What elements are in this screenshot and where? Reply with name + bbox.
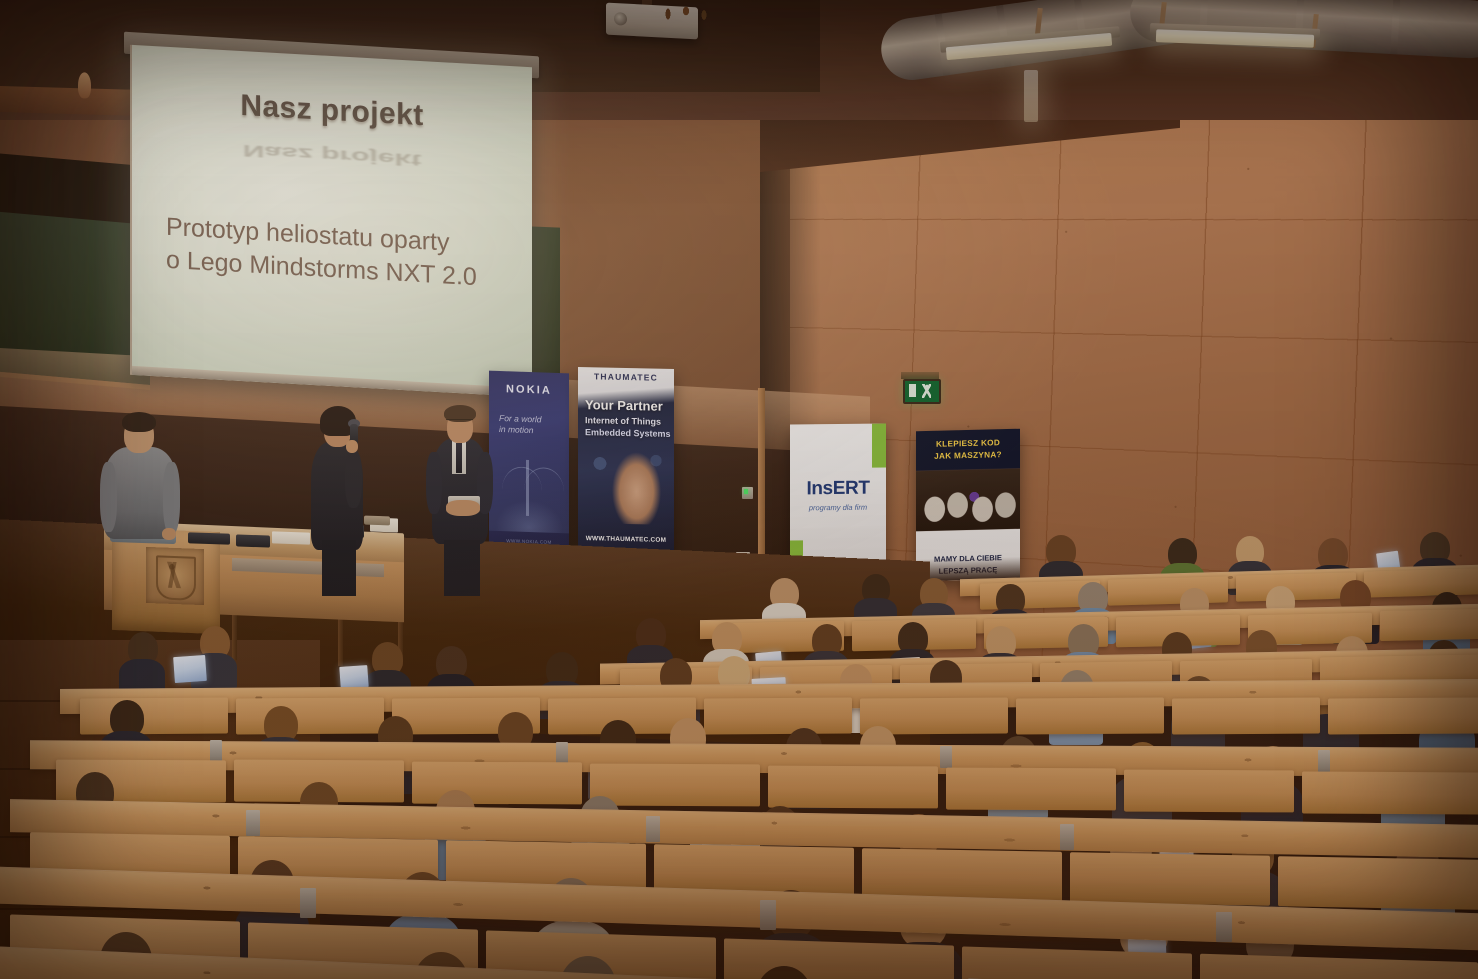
banner-recruitment: KLEPIESZ KOD JAK MASZYNA? MAMY DLA CIEBI… [916, 429, 1020, 582]
banner-insert: InsERT programy dla firm [790, 423, 886, 576]
projector-cables [660, 2, 718, 28]
seat-back[interactable] [590, 764, 760, 807]
presenter-left-arm [100, 462, 117, 532]
presenter-center-hand [346, 440, 358, 453]
banner-nokia: NOKIA For a world in motion WWW.NOKIA.CO… [489, 371, 569, 552]
desk-bracket [1060, 824, 1074, 850]
desk-object [364, 516, 390, 526]
desk-bracket [940, 746, 952, 768]
wall-light-glow [1024, 70, 1038, 122]
seat-back[interactable] [1364, 568, 1478, 597]
seat-back[interactable] [1200, 954, 1478, 979]
seat-back[interactable] [1172, 697, 1320, 734]
projection-screen: Nasz projekt Nasz projekt Prototyp helio… [130, 45, 532, 397]
desk-bracket [210, 740, 222, 762]
desk-bracket [300, 888, 316, 918]
seat-back[interactable] [1108, 576, 1228, 605]
tablet-screen[interactable] [173, 655, 207, 683]
recruitment-photo [916, 469, 1020, 532]
projector-lens [614, 12, 627, 26]
thaumatec-url: WWW.THAUMATEC.COM [578, 535, 674, 544]
exit-door-icon [909, 384, 916, 397]
nokia-bridge-photo [489, 435, 569, 534]
recruitment-headline: KLEPIESZ KOD JAK MASZYNA? [916, 429, 1020, 464]
desk-equipment [236, 534, 270, 547]
slide-title-reflection: Nasz projekt [132, 135, 532, 176]
emergency-exit-sign [903, 379, 941, 404]
presenter-right-glasses [446, 419, 473, 425]
lecture-hall-photo: Nasz projekt Nasz projekt Prototyp helio… [0, 0, 1478, 979]
seat-back[interactable] [80, 697, 228, 734]
seat-back[interactable] [1380, 609, 1478, 641]
running-person-icon [922, 384, 931, 398]
insert-tagline: programy dla firm [790, 502, 886, 512]
seat-back[interactable] [1016, 697, 1164, 734]
seat-back[interactable] [1302, 772, 1478, 815]
seat-back[interactable] [724, 938, 954, 979]
seat-back[interactable] [412, 762, 582, 805]
presenter-left-arm [163, 462, 180, 534]
presenter-right-arm [426, 452, 442, 514]
desk-bracket [646, 816, 660, 842]
presenter-right-tie [456, 443, 462, 473]
thaumatec-hand-photo [608, 438, 670, 525]
nokia-logo: NOKIA [489, 383, 569, 398]
desk-bracket [556, 742, 568, 764]
insert-logo: InsERT [790, 477, 886, 500]
presenter-left-hand [162, 528, 176, 540]
seat-back[interactable] [1236, 572, 1356, 601]
thaumatec-logo: THAUMATEC [578, 371, 674, 383]
thaumatec-line-2: Internet of Things [585, 415, 674, 427]
seat-back[interactable] [946, 768, 1116, 811]
exit-sign-hood [901, 372, 939, 379]
thaumatec-headline: Your Partner [585, 397, 674, 414]
slide-body: Prototyp heliostatu oparty o Lego Mindst… [158, 210, 506, 295]
insert-accent-top [872, 423, 886, 467]
slide-title: Nasz projekt [158, 84, 506, 137]
presenter-center-arm [345, 450, 362, 508]
desk-bracket [246, 810, 260, 836]
desk-bracket [1216, 912, 1232, 942]
switch-indicator-led [744, 489, 748, 494]
desk-bracket [760, 900, 776, 930]
seat-back[interactable] [236, 697, 384, 734]
auditorium-seating [0, 560, 1478, 979]
seat-back[interactable] [1124, 770, 1294, 813]
presenter-left-hair [122, 412, 156, 432]
seat-back[interactable] [704, 697, 852, 734]
presenter-right-hands [446, 500, 480, 516]
seat-back[interactable] [768, 766, 938, 809]
desk-bracket [1318, 750, 1330, 772]
recruitment-headline-line-2: JAK MASZYNA? [916, 449, 1020, 464]
tablet-screen[interactable] [339, 665, 368, 689]
seat-back[interactable] [1278, 856, 1478, 910]
seat-back[interactable] [1070, 852, 1270, 905]
desk-papers [272, 531, 310, 544]
seat-back[interactable] [862, 848, 1062, 901]
seat-back[interactable] [1328, 697, 1478, 734]
banner-thaumatec: THAUMATEC Your Partner Internet of Thing… [578, 367, 674, 551]
desk-equipment [188, 532, 230, 544]
